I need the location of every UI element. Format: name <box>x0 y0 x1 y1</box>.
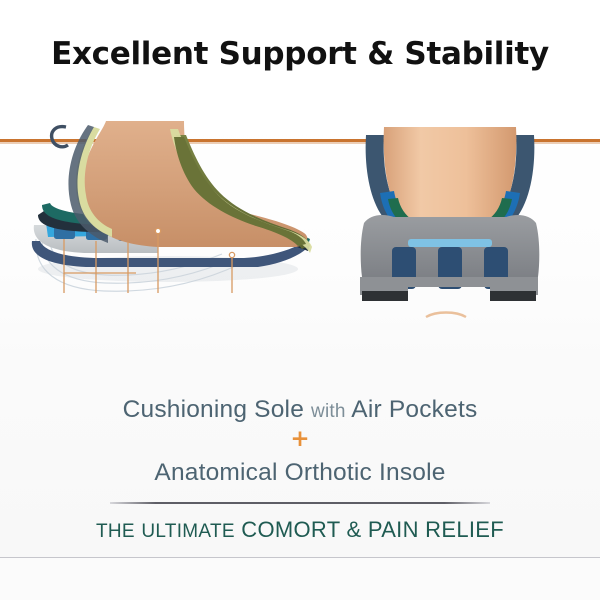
illustration-band: E Air Pockets Orthotic Insole Cushioning… <box>0 113 600 368</box>
tread-rubber-pads <box>362 291 536 301</box>
tagline-ultimate: ULTIMATE <box>141 521 235 542</box>
claim-air-pockets: Air Pockets <box>351 396 477 423</box>
footer-band <box>0 558 600 600</box>
cushion-strip <box>408 239 492 247</box>
claim-cushioning-sole: Cushioning Sole <box>123 396 304 423</box>
tagline: THE ULTIMATE COMORT & PAIN RELIEF <box>0 517 600 543</box>
page-title: Excellent Support & Stability <box>0 36 600 72</box>
divider-rule <box>110 502 490 504</box>
claim-with: with <box>311 401 346 422</box>
shoe-rear-heel-cutaway-illustration <box>330 121 570 336</box>
shoe-side-cutaway-illustration <box>8 121 318 321</box>
ground-contact-arc <box>426 313 466 318</box>
header-band: Excellent Support & Stability <box>0 0 600 113</box>
promo-image-root: Excellent Support & Stability <box>0 0 600 600</box>
heel-pull-loop <box>52 127 68 147</box>
tagline-the: THE <box>96 521 135 542</box>
claim-line-1: Cushioning Sole with Air Pockets <box>0 396 600 424</box>
tagline-main: COMORT & PAIN RELIEF <box>241 517 504 542</box>
claim-line-2: Anatomical Orthotic Insole <box>0 459 600 487</box>
plus-sign: + <box>0 428 600 451</box>
